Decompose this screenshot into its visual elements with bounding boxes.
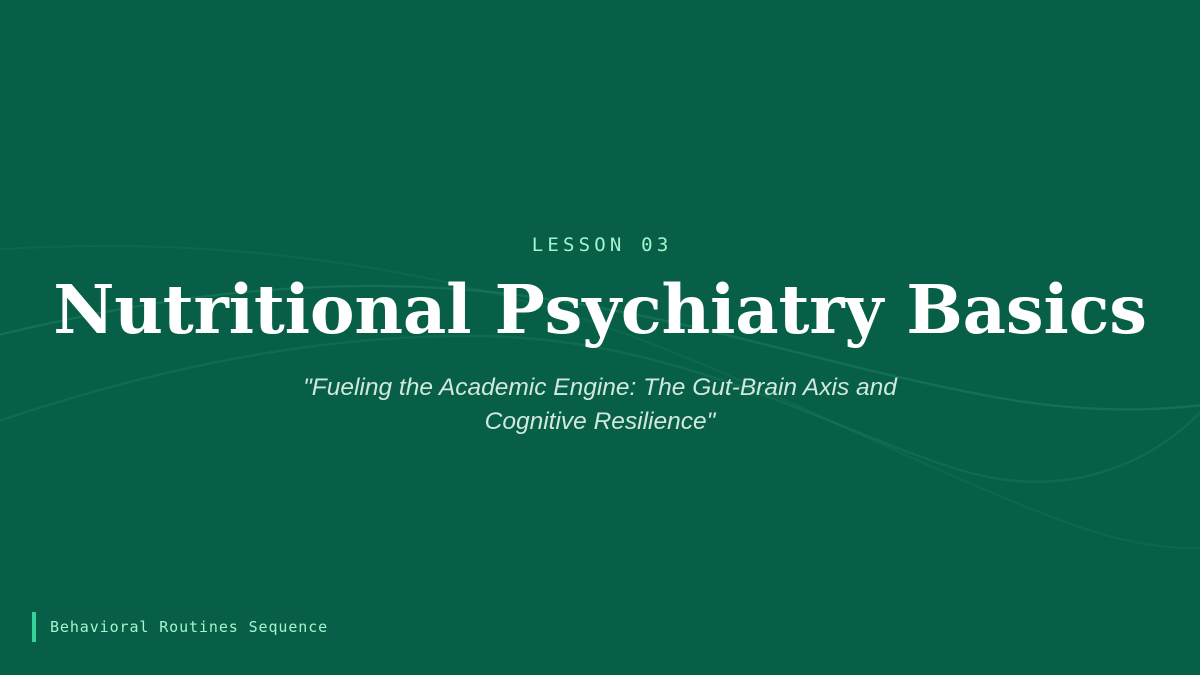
subtitle-line-2: Cognitive Resilience"	[303, 405, 897, 440]
slide-footer: Behavioral Routines Sequence	[32, 612, 328, 642]
subtitle-line-1: "Fueling the Academic Engine: The Gut-Br…	[303, 371, 897, 406]
title-slide: LESSON 03 Nutritional Psychiatry Basics …	[0, 0, 1200, 675]
footer-accent-bar	[32, 612, 36, 642]
slide-subtitle: "Fueling the Academic Engine: The Gut-Br…	[303, 371, 897, 441]
page-title: Nutritional Psychiatry Basics	[53, 274, 1146, 345]
slide-content: LESSON 03 Nutritional Psychiatry Basics …	[0, 0, 1200, 675]
lesson-eyebrow: LESSON 03	[528, 235, 673, 256]
footer-label: Behavioral Routines Sequence	[50, 620, 328, 635]
